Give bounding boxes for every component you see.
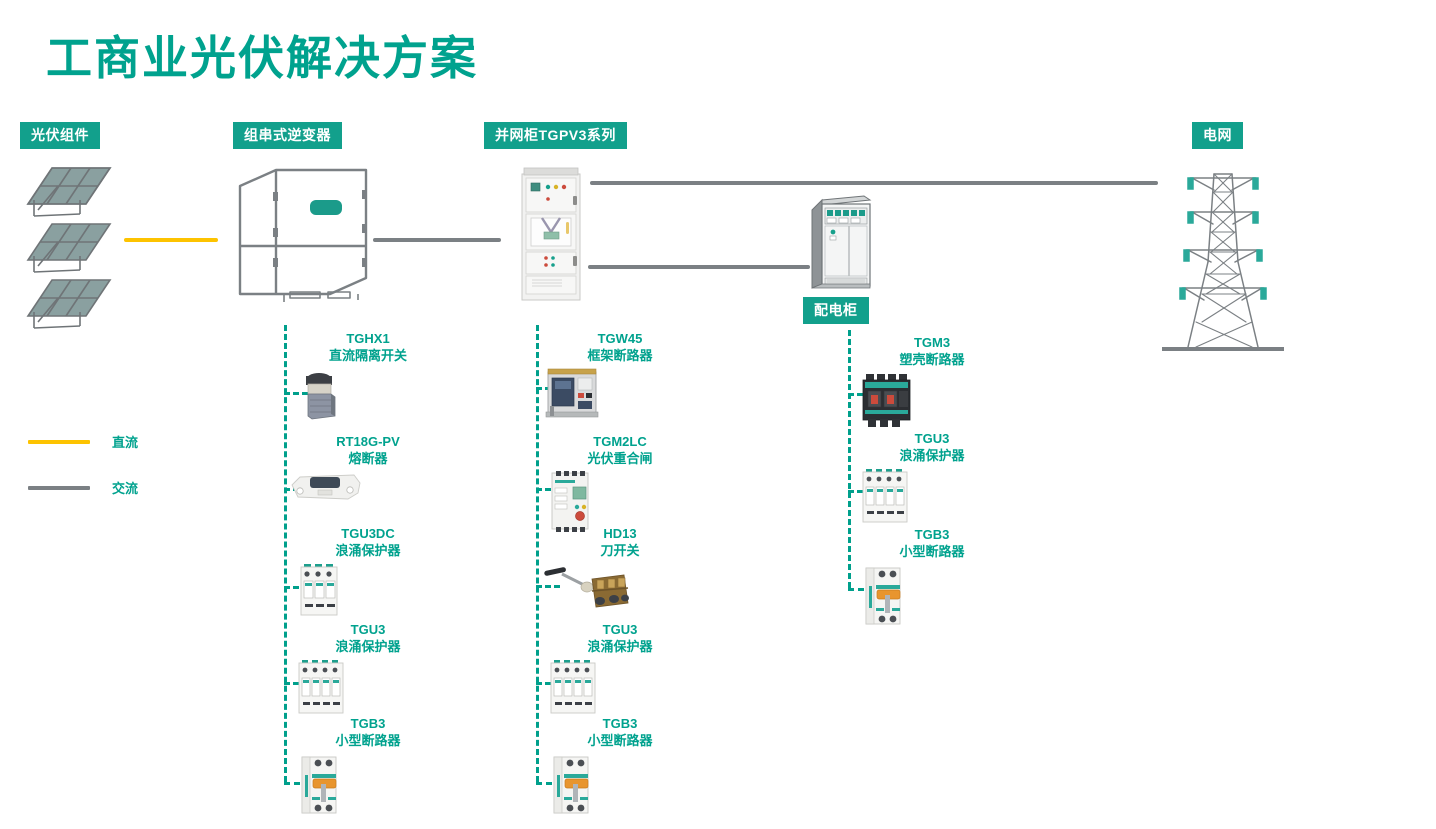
product-item[interactable]: TGM2LC 光伏重合闸 — [540, 433, 700, 533]
switchgear-cabinet-icon — [520, 168, 582, 302]
product-name: 刀开关 — [540, 542, 700, 560]
wire-ac-grid-cabinet-to-grid — [590, 181, 1158, 185]
distribution-cabinet — [808, 192, 876, 290]
product-item[interactable]: TGU3 浪涌保护器 — [288, 621, 448, 719]
column-spine — [848, 330, 851, 588]
product-model: HD13 — [540, 525, 700, 542]
product-model: TGB3 — [288, 715, 448, 732]
stage-badge-grid[interactable]: 电网 — [1192, 122, 1243, 149]
diagram-canvas: 工商业光伏解决方案 光伏组件 组串式逆变器 并网柜TGPV3系列 配电柜 电网 … — [0, 0, 1436, 829]
wire-ac-grid-cabinet-to-distribution — [588, 265, 810, 269]
product-item[interactable]: TGU3DC 浪涌保护器 — [288, 525, 448, 623]
product-model: RT18G-PV — [288, 433, 448, 450]
product-model: TGU3 — [852, 430, 1012, 447]
product-model: TGU3 — [288, 621, 448, 638]
product-model: TGB3 — [540, 715, 700, 732]
product-item[interactable]: RT18G-PV 熔断器 — [288, 433, 448, 505]
product-model: TGW45 — [540, 330, 700, 347]
product-name: 直流隔离开关 — [288, 347, 448, 365]
surge-protector-4p-icon — [540, 657, 700, 719]
stage-badge-string-inverter[interactable]: 组串式逆变器 — [233, 122, 342, 149]
product-name: 框架断路器 — [540, 347, 700, 365]
product-model: TGM2LC — [540, 433, 700, 450]
surge-protector-4p-icon — [288, 657, 448, 719]
product-item[interactable]: TGHX1 直流隔离开关 — [288, 330, 448, 428]
knife-switch-icon — [540, 561, 700, 617]
transmission-tower — [1158, 162, 1288, 360]
legend-label-dc: 直流 — [112, 432, 138, 451]
column-spine — [536, 325, 539, 782]
product-model: TGB3 — [852, 526, 1012, 543]
product-name: 浪涌保护器 — [288, 542, 448, 560]
product-name: 小型断路器 — [288, 732, 448, 750]
string-inverter — [232, 166, 374, 306]
product-name: 光伏重合闸 — [540, 450, 700, 468]
product-item[interactable]: TGU3 浪涌保护器 — [852, 430, 1012, 528]
product-item[interactable]: TGM3 塑壳断路器 — [852, 334, 1012, 432]
legend-item-ac: 交流 — [28, 478, 138, 497]
wire-dc-pv-to-inverter — [124, 238, 218, 242]
legend-label-ac: 交流 — [112, 478, 138, 497]
product-model: TGHX1 — [288, 330, 448, 347]
stage-badge-distribution-cabinet[interactable]: 配电柜 — [803, 297, 869, 324]
product-item[interactable]: TGB3 小型断路器 — [540, 715, 700, 817]
product-item[interactable]: TGU3 浪涌保护器 — [540, 621, 700, 719]
product-name: 小型断路器 — [852, 543, 1012, 561]
product-name: 浪涌保护器 — [852, 447, 1012, 465]
miniature-circuit-breaker-icon — [288, 751, 448, 817]
wire-ac-inverter-to-grid-cabinet — [373, 238, 501, 242]
stage-badge-grid-cabinet[interactable]: 并网柜TGPV3系列 — [484, 122, 627, 149]
pv-recloser-icon — [540, 469, 700, 533]
dc-isolator-icon — [288, 366, 448, 428]
distribution-cabinet-icon — [808, 192, 876, 290]
page-title: 工商业光伏解决方案 — [46, 22, 478, 88]
product-name: 小型断路器 — [540, 732, 700, 750]
product-name: 浪涌保护器 — [540, 638, 700, 656]
grid-cabinet — [520, 168, 582, 302]
miniature-circuit-breaker-icon — [852, 562, 1012, 628]
air-circuit-breaker-icon — [540, 366, 700, 422]
product-item[interactable]: TGB3 小型断路器 — [852, 526, 1012, 628]
legend-swatch-dc — [28, 440, 90, 444]
product-model: TGU3 — [540, 621, 700, 638]
inverter-badge — [310, 200, 342, 215]
transmission-tower-icon — [1158, 162, 1288, 360]
string-inverter-icon — [232, 166, 374, 306]
product-item[interactable]: TGB3 小型断路器 — [288, 715, 448, 817]
product-name: 熔断器 — [288, 450, 448, 468]
moulded-case-circuit-breaker-icon — [852, 370, 1012, 432]
surge-protector-3p-icon — [288, 561, 448, 623]
product-item[interactable]: HD13 刀开关 — [540, 525, 700, 617]
miniature-circuit-breaker-icon — [540, 751, 700, 817]
stage-badge-pv-modules[interactable]: 光伏组件 — [20, 122, 100, 149]
product-name: 浪涌保护器 — [288, 638, 448, 656]
surge-protector-4p-icon — [852, 466, 1012, 528]
legend-item-dc: 直流 — [28, 432, 138, 451]
solar-panel-icon — [20, 162, 130, 334]
product-model: TGM3 — [852, 334, 1012, 351]
product-model: TGU3DC — [288, 525, 448, 542]
legend-swatch-ac — [28, 486, 90, 490]
product-item[interactable]: TGW45 框架断路器 — [540, 330, 700, 422]
product-name: 塑壳断路器 — [852, 351, 1012, 369]
solar-panel-array — [20, 162, 130, 334]
fuse-icon — [288, 469, 448, 505]
